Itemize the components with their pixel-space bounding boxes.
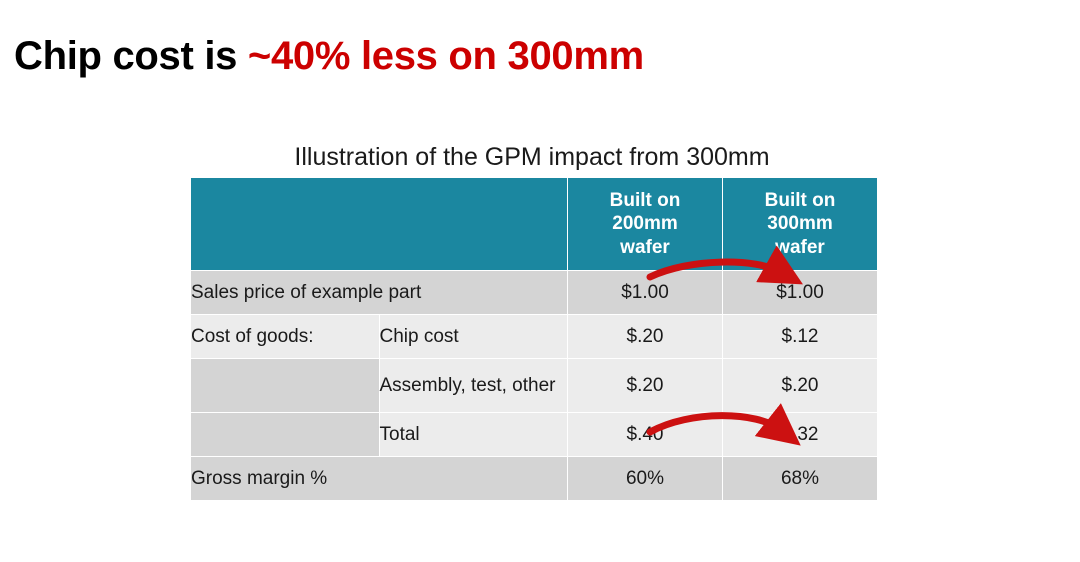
header-cell-blank xyxy=(191,178,568,271)
header-cell-300mm: Built on 300mm wafer xyxy=(723,178,878,271)
table-header-row: Built on 200mm wafer Built on 300mm wafe… xyxy=(191,178,878,271)
cell-total-300mm: $.32 xyxy=(723,413,878,457)
cell-chip-cost-300mm: $.12 xyxy=(723,315,878,359)
header-200mm-line3: wafer xyxy=(568,236,722,259)
page-title-accent: ~40% less on 300mm xyxy=(248,34,644,78)
header-300mm-line3: wafer xyxy=(723,236,877,259)
row-label-blank-total xyxy=(191,413,380,457)
cell-chip-cost-200mm: $.20 xyxy=(568,315,723,359)
header-cell-200mm: Built on 200mm wafer xyxy=(568,178,723,271)
cell-sales-price-300mm: $1.00 xyxy=(723,271,878,315)
table-row: Gross margin % 60% 68% xyxy=(191,457,878,501)
page-title-plain: Chip cost is xyxy=(14,34,248,78)
header-300mm-line1: Built on xyxy=(723,189,877,212)
cell-assembly-300mm: $.20 xyxy=(723,359,878,413)
cell-assembly-200mm: $.20 xyxy=(568,359,723,413)
cell-gross-margin-300mm: 68% xyxy=(723,457,878,501)
row-label-gross-margin: Gross margin % xyxy=(191,457,568,501)
header-200mm-line2: 200mm xyxy=(568,212,722,235)
cell-total-200mm: $.40 xyxy=(568,413,723,457)
gpm-table: Built on 200mm wafer Built on 300mm wafe… xyxy=(190,177,878,501)
table-row: Sales price of example part $1.00 $1.00 xyxy=(191,271,878,315)
gpm-table-container: Built on 200mm wafer Built on 300mm wafe… xyxy=(190,177,874,501)
row-label-cost-of-goods: Cost of goods: xyxy=(191,315,380,359)
row-sublabel-total: Total xyxy=(379,413,568,457)
row-label-blank-assembly xyxy=(191,359,380,413)
table-caption: Illustration of the GPM impact from 300m… xyxy=(190,143,874,172)
header-200mm-line1: Built on xyxy=(568,189,722,212)
slide: Chip cost is ~40% less on 300mm Illustra… xyxy=(0,0,1080,562)
page-title: Chip cost is ~40% less on 300mm xyxy=(14,34,644,79)
header-300mm-line2: 300mm xyxy=(723,212,877,235)
table-row: Assembly, test, other $.20 $.20 xyxy=(191,359,878,413)
row-label-sales-price: Sales price of example part xyxy=(191,271,568,315)
table-row: Cost of goods: Chip cost $.20 $.12 xyxy=(191,315,878,359)
cell-gross-margin-200mm: 60% xyxy=(568,457,723,501)
cell-sales-price-200mm: $1.00 xyxy=(568,271,723,315)
row-sublabel-chip-cost: Chip cost xyxy=(379,315,568,359)
table-row: Total $.40 $.32 xyxy=(191,413,878,457)
row-sublabel-assembly-test-other: Assembly, test, other xyxy=(379,359,568,413)
